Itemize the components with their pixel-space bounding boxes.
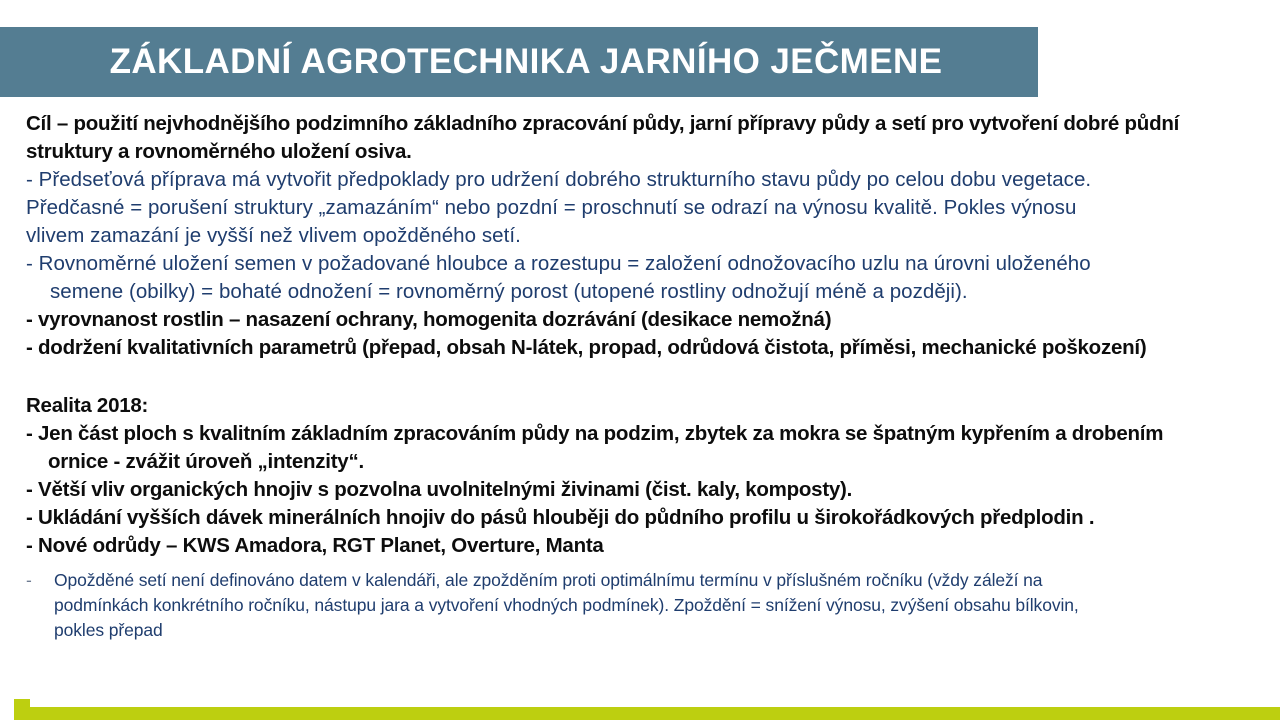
body-line-preseedbed-1: - Předseťová příprava má vytvořit předpo… <box>26 166 1258 194</box>
body-line-quality-params: - dodržení kvalitativních parametrů (pře… <box>26 334 1258 362</box>
body-line-even-2: semene (obilky) = bohaté odnožení = rovn… <box>26 278 1258 306</box>
reality-line-1b: ornice - zvážit úroveň „intenzity“. <box>26 448 1258 476</box>
footnote-line-3: pokles přepad <box>54 618 1236 643</box>
reality-heading: Realita 2018: <box>26 392 1258 420</box>
reality-line-4: - Nové odrůdy – KWS Amadora, RGT Planet,… <box>26 532 1258 560</box>
bottom-accent-bar-notch <box>14 699 30 716</box>
footnote-line-2: podmínkách konkrétního ročníku, nástupu … <box>54 593 1236 618</box>
reality-line-2: - Větší vliv organických hnojiv s pozvol… <box>26 476 1258 504</box>
body-line-goal-1: Cíl – použití nejvhodnějšího podzimního … <box>26 110 1258 138</box>
slide-title-banner: ZÁKLADNÍ AGROTECHNIKA JARNÍHO JEČMENE <box>0 27 1038 97</box>
body-line-preseedbed-2: Předčasné = porušení struktury „zamazání… <box>26 194 1258 222</box>
reality-line-3: - Ukládání vyšších dávek minerálních hno… <box>26 504 1258 532</box>
footnote-bullet-dash: - <box>26 568 32 593</box>
footnote-line-1: Opožděné setí není definováno datem v ka… <box>54 568 1236 593</box>
footnote-block: - Opožděné setí není definováno datem v … <box>26 568 1236 643</box>
body-line-goal-2: struktury a rovnoměrného uložení osiva. <box>26 138 1258 166</box>
footnote-body: Opožděné setí není definováno datem v ka… <box>26 568 1236 643</box>
body-line-even-1: - Rovnoměrné uložení semen v požadované … <box>26 250 1258 278</box>
body-line-preseedbed-3: vlivem zamazání je vyšší než vlivem opož… <box>26 222 1258 250</box>
bottom-accent-bar <box>14 707 1280 720</box>
body-spacer <box>26 362 1258 392</box>
reality-line-1a: - Jen část ploch s kvalitním základním z… <box>26 420 1258 448</box>
slide-canvas: ZÁKLADNÍ AGROTECHNIKA JARNÍHO JEČMENE Cí… <box>0 0 1280 720</box>
page-title: ZÁKLADNÍ AGROTECHNIKA JARNÍHO JEČMENE <box>110 44 943 81</box>
slide-body: Cíl – použití nejvhodnějšího podzimního … <box>26 110 1258 560</box>
body-line-uniformity: - vyrovnanost rostlin – nasazení ochrany… <box>26 306 1258 334</box>
